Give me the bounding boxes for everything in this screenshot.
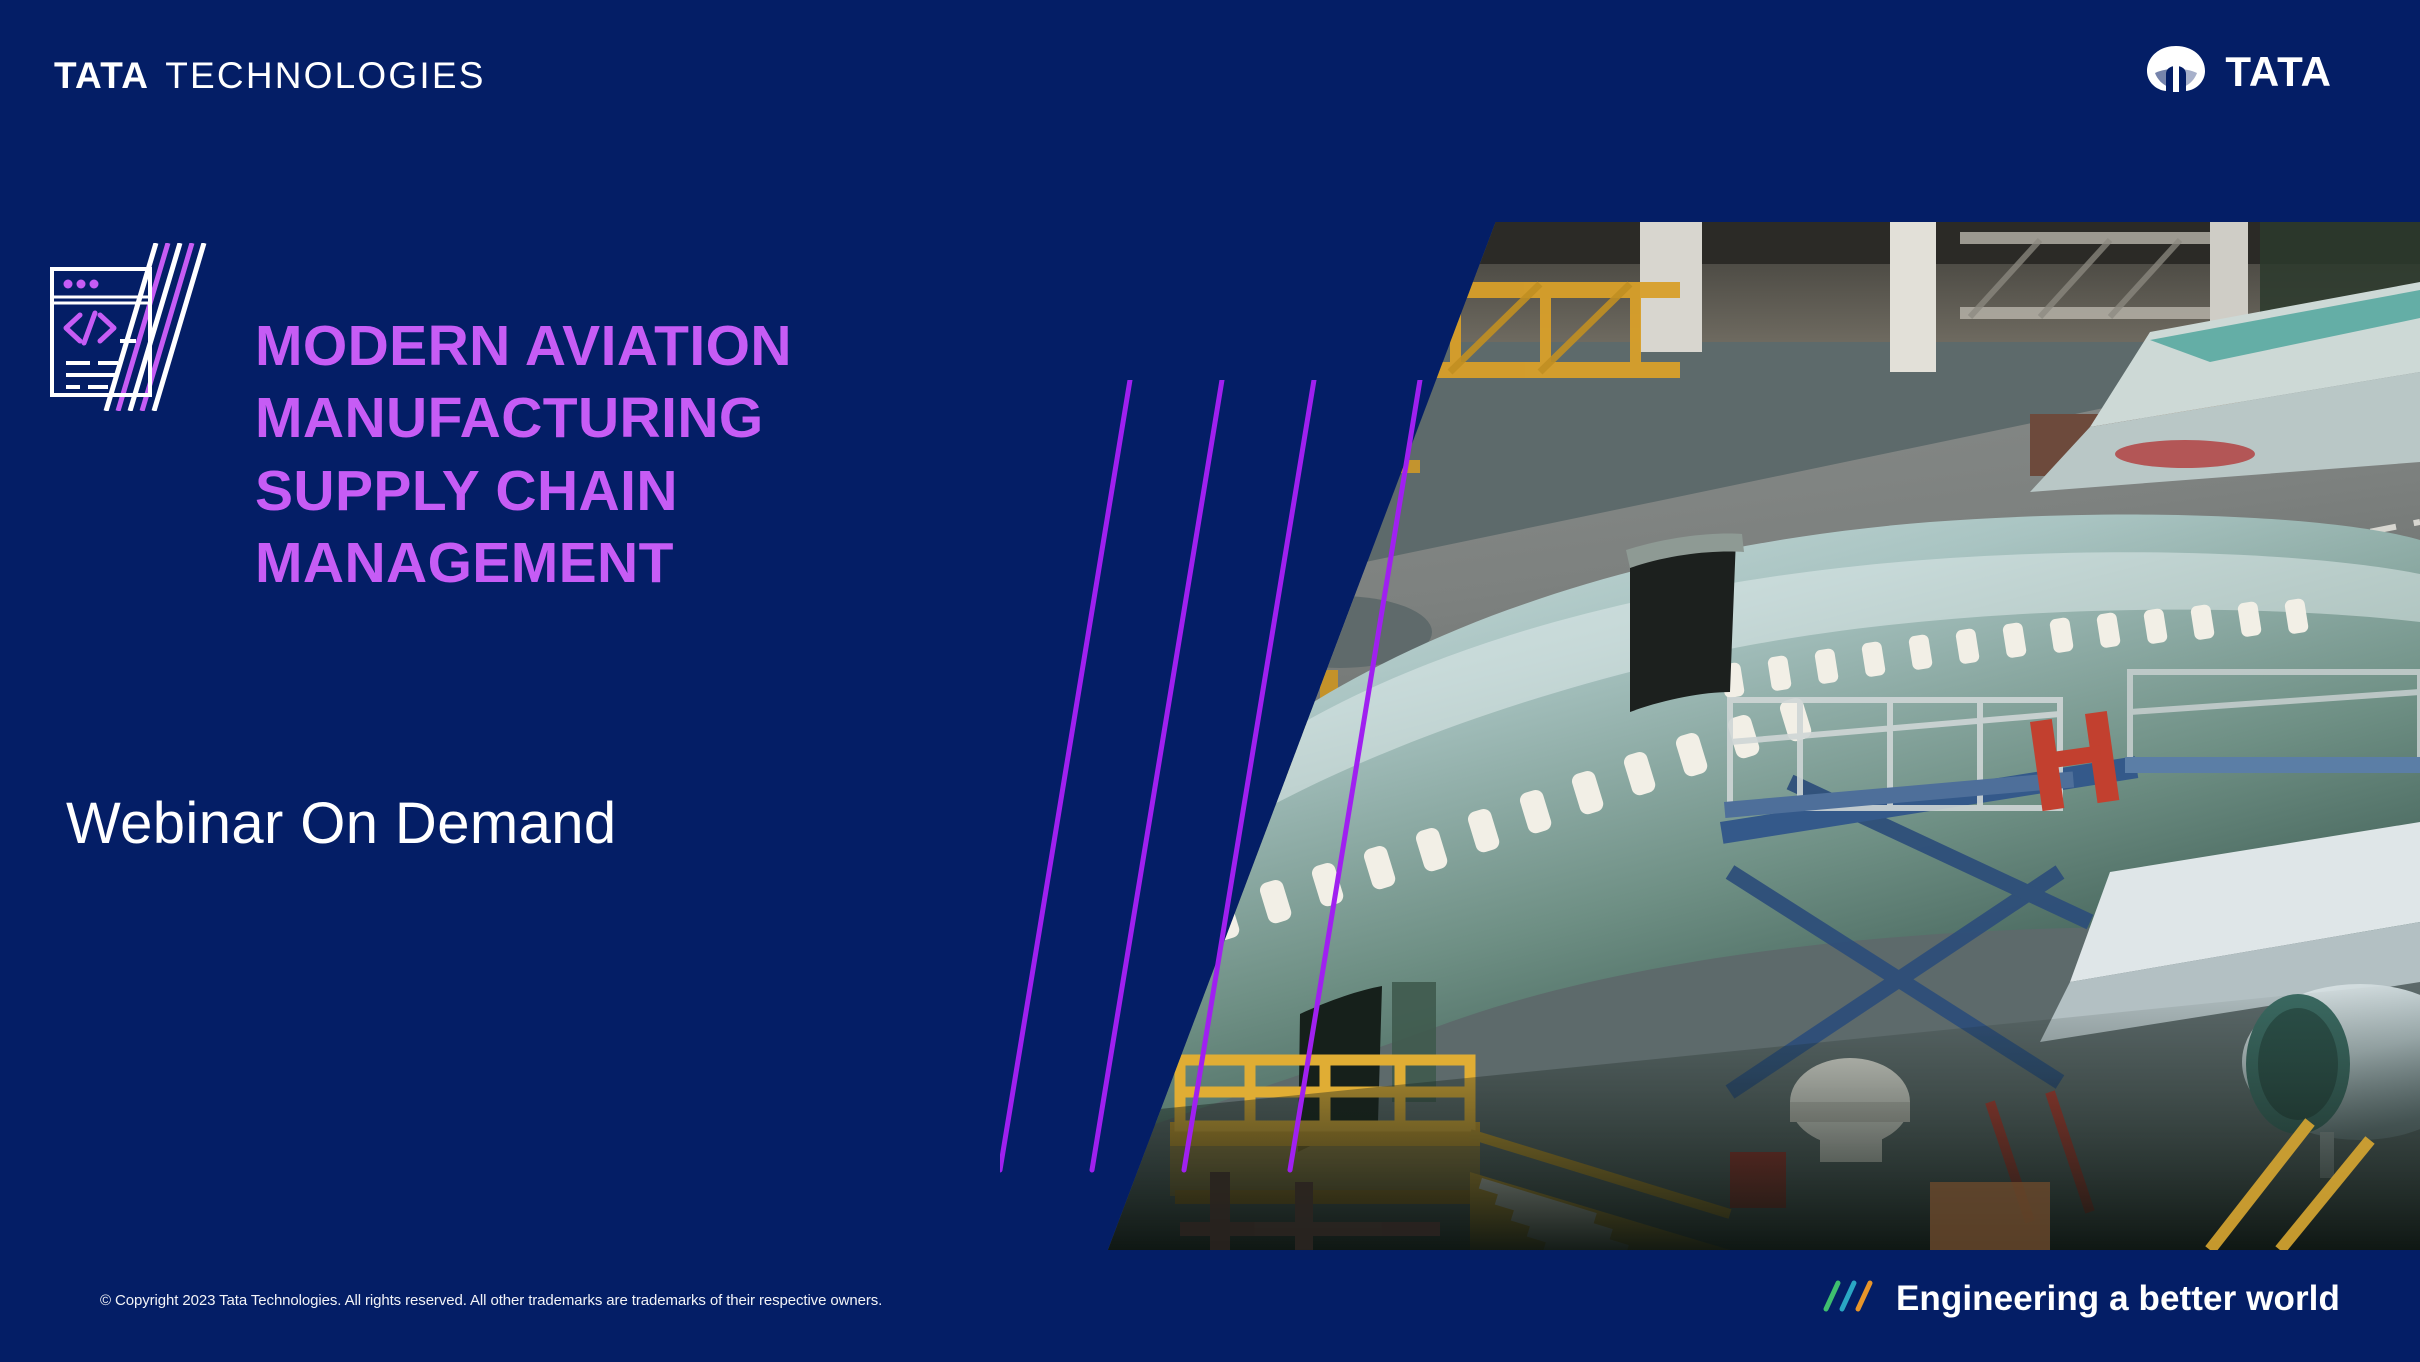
code-window-icon xyxy=(48,243,208,411)
triple-slash-icon xyxy=(1822,1278,1880,1319)
tata-group-wordmark: TATA xyxy=(2225,51,2332,93)
tata-group-logo: TATA xyxy=(2145,44,2332,99)
title-line-3: SUPPLY CHAIN xyxy=(255,459,678,523)
page-subtitle: Webinar On Demand xyxy=(66,790,617,857)
title-line-4: MANAGEMENT xyxy=(255,531,674,595)
slide-header: TATA TECHNOLOGIES TATA xyxy=(0,0,2420,150)
presentation-slide: TATA TECHNOLOGIES TATA xyxy=(0,0,2420,1362)
copyright-notice: © Copyright 2023 Tata Technologies. All … xyxy=(100,1292,882,1309)
page-title: MODERN AVIATION MANUFACTURING SUPPLY CHA… xyxy=(255,310,975,600)
title-line-2: MANUFACTURING xyxy=(255,386,764,450)
photo-artwork xyxy=(1030,222,2420,1250)
logo-technologies-word: TECHNOLOGIES xyxy=(165,55,485,97)
tata-technologies-logo: TATA TECHNOLOGIES xyxy=(54,55,486,97)
logo-tata-word: TATA xyxy=(54,55,149,97)
title-line-1: MODERN AVIATION xyxy=(255,314,792,378)
hero-title-block: MODERN AVIATION MANUFACTURING SUPPLY CHA… xyxy=(255,310,975,600)
tata-group-emblem-icon xyxy=(2145,44,2207,99)
tagline-text: Engineering a better world xyxy=(1896,1279,2340,1319)
aircraft-assembly-factory-photo xyxy=(1030,222,2420,1250)
company-tagline: Engineering a better world xyxy=(1822,1278,2340,1319)
